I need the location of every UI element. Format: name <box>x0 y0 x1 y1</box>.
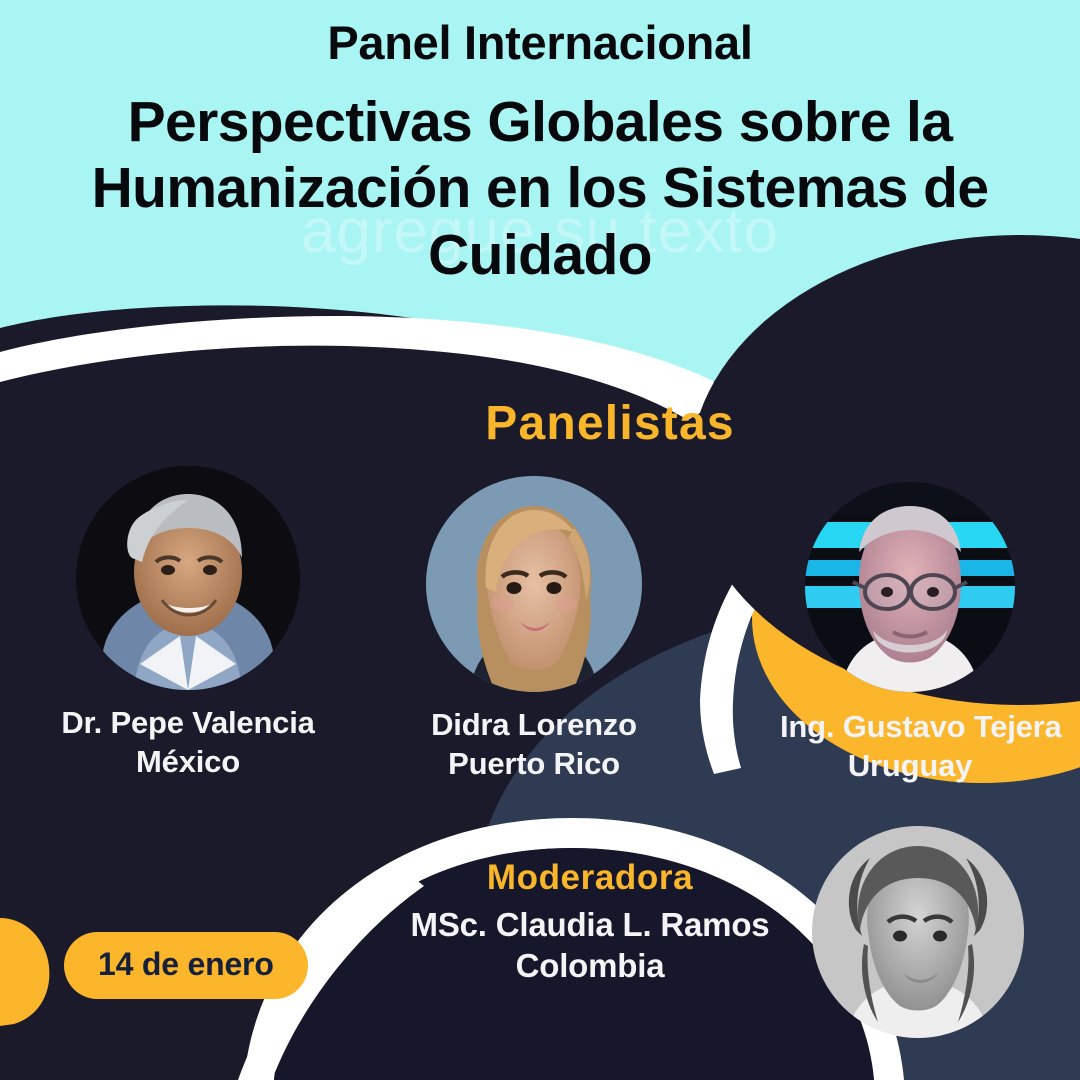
moderator-country: Colombia <box>516 947 665 984</box>
panelist-country: México <box>136 744 240 779</box>
panelist-country: Uruguay <box>848 748 972 783</box>
event-date-badge: 14 de enero <box>64 932 308 999</box>
panelist-avatar <box>426 476 642 692</box>
panelist-name: Didra Lorenzo Puerto Rico <box>404 706 664 784</box>
moderator-name: MSc. Claudia L. Ramos Colombia <box>350 904 830 987</box>
kicker-title: Panel Internacional <box>327 18 752 67</box>
panelist-fullname: Didra Lorenzo <box>431 707 637 742</box>
panelist-fullname: Ing. Gustavo Tejera <box>780 709 1062 744</box>
panelist-avatar <box>805 482 1015 692</box>
panelist-name: Dr. Pepe Valencia México <box>58 704 318 782</box>
panelist-country: Puerto Rico <box>448 746 620 781</box>
panelist-avatar <box>76 466 300 690</box>
panelists-section-label: Panelistas <box>0 396 1080 451</box>
panelist-card: Didra Lorenzo Puerto Rico <box>404 476 664 784</box>
moderator-fullname: MSc. Claudia L. Ramos <box>411 906 770 943</box>
page-title: Perspectivas Globales sobre la Humanizac… <box>35 89 1045 287</box>
panelist-card: Ing. Gustavo Tejera Uruguay <box>780 482 1040 786</box>
moderator-role-label: Moderadora <box>350 858 830 898</box>
moderator-avatar <box>812 826 1024 1038</box>
panelist-name: Ing. Gustavo Tejera Uruguay <box>780 708 1040 786</box>
panelist-card: Dr. Pepe Valencia México <box>58 466 318 782</box>
event-flyer: agregue su texto Panel Internacional Per… <box>0 0 1080 1080</box>
header-band: agregue su texto Panel Internacional Per… <box>0 0 1080 318</box>
panelist-fullname: Dr. Pepe Valencia <box>61 705 314 740</box>
moderator-block: Moderadora MSc. Claudia L. Ramos Colombi… <box>350 858 830 987</box>
